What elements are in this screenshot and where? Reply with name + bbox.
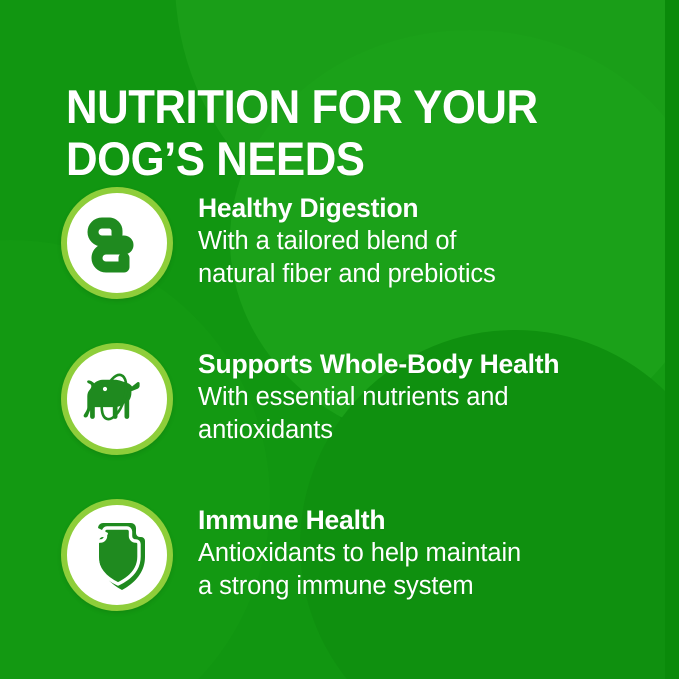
intestine-icon [80,206,154,280]
feature-row-whole-body-health: Supports Whole-Body Health With essentia… [0,339,679,495]
feature-title: Healthy Digestion [198,193,496,224]
feature-row-immune-health: Immune Health Antioxidants to help maint… [0,495,679,651]
page-title-line-2: DOG’S NEEDS [66,132,364,185]
feature-text-whole-body: Supports Whole-Body Health With essentia… [198,339,559,448]
feature-description-line-2: antioxidants [198,414,559,448]
feature-description: Antioxidants to help maintain a strong i… [198,537,521,604]
feature-text-digestion: Healthy Digestion With a tailored blend … [198,183,496,292]
icon-badge-digestion [61,187,173,299]
feature-title: Supports Whole-Body Health [198,349,559,380]
feature-title: Immune Health [198,505,521,536]
feature-description-line-1: Antioxidants to help maintain [198,537,521,571]
feature-description: With a tailored blend of natural fiber a… [198,225,496,292]
feature-list: Healthy Digestion With a tailored blend … [0,183,679,651]
page-title-line-1: NUTRITION FOR YOUR [66,80,538,133]
feature-description-line-2: a strong immune system [198,570,521,604]
feature-description-line-1: With a tailored blend of [198,225,496,259]
icon-badge-immune [61,499,173,611]
feature-description-line-1: With essential nutrients and [198,381,559,415]
shield-icon [82,517,152,593]
feature-text-immune: Immune Health Antioxidants to help maint… [198,495,521,604]
dog-orbit-icon [78,364,156,434]
nutrition-infographic: NUTRITION FOR YOUR DOG’S NEEDS Healthy D… [0,0,679,679]
feature-description-line-2: natural fiber and prebiotics [198,258,496,292]
icon-badge-whole-body [61,343,173,455]
page-title: NUTRITION FOR YOUR DOG’S NEEDS [66,81,615,183]
feature-description: With essential nutrients and antioxidant… [198,381,559,448]
feature-row-healthy-digestion: Healthy Digestion With a tailored blend … [0,183,679,339]
